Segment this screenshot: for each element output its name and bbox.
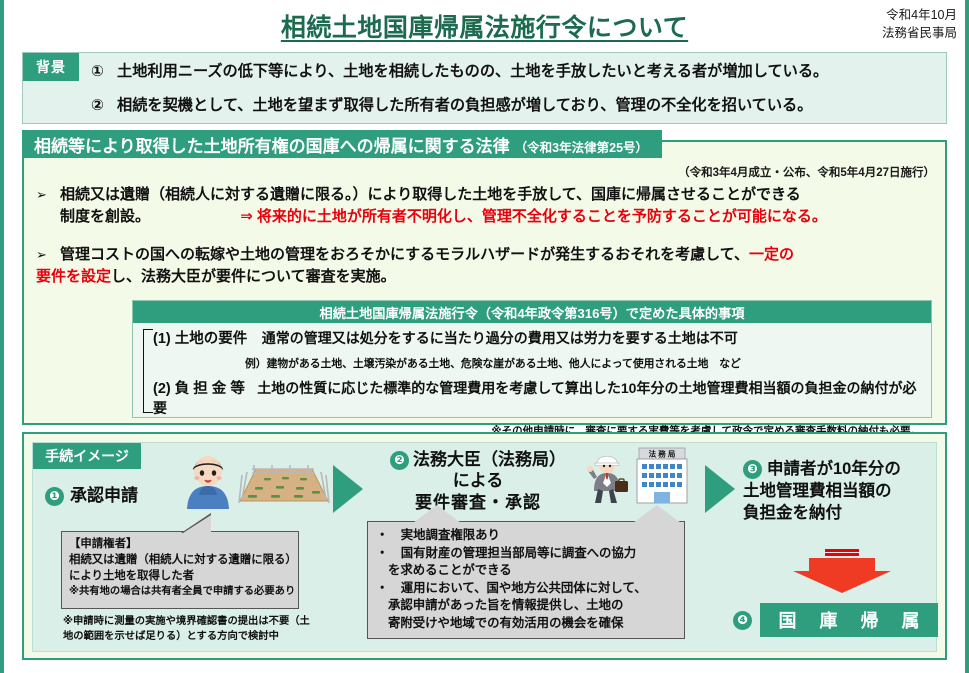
header-date: 令和4年10月 — [882, 6, 957, 24]
spec-row-2-red-text: 負担金 — [804, 380, 846, 396]
callout-1-line-2: 相続又は遺贈（相続人に対する遺贈に限る） — [69, 553, 291, 569]
law-bullet-1-line2: 制度を創設。 — [60, 208, 150, 225]
spec-row-1-example: 例）建物がある土地、土壌汚染がある土地、危険な崖がある土地、他人によって使用され… — [153, 355, 925, 371]
background-item-1-text: 土地利用ニーズの低下等により、土地を相続したものの、土地を手放したいと考える者が… — [117, 63, 828, 80]
law-bullet-2-red-a: 一定の — [749, 246, 794, 263]
step-2-line-2: による — [363, 470, 593, 491]
red-down-arrow-icon — [791, 549, 893, 593]
step-4-number: ❹ — [733, 611, 752, 630]
step-2-number: ❷ — [390, 451, 409, 470]
law-bullet-1-line2-wrap: 制度を創設。 ⇒ 将来的に土地が所有者不明化し、管理不全化することを予防すること… — [36, 206, 933, 228]
flow-arrow-2-icon — [705, 465, 735, 513]
law-bullet-2-line1-wrap: 管理コストの国への転嫁や土地の管理をおろそかにするモラルハザードが発生するおそれ… — [36, 244, 933, 266]
callout-2-line-6: 寄附受けや地域での有効活用の機会を確保 — [376, 615, 676, 633]
background-item-2-text: 相続を契機として、土地を望まず取得した所有者の負担感が増しており、管理の不全化を… — [117, 97, 812, 114]
step-1-footnote-line-1: ※申請時に測量の実施や境界確認書の提出は不要（土 — [63, 615, 310, 630]
step-3-line-3: 負担金を納付 — [743, 503, 943, 525]
background-item-2: ②相続を契機として、土地を望まず取得した所有者の負担感が増しており、管理の不全化… — [91, 93, 812, 115]
callout-1-line-1: 【申請権者】 — [69, 537, 291, 553]
spec-row-land-requirements: (1) 土地の要件 通常の管理又は処分をするに当たり過分の費用又は労力を要する土… — [153, 327, 925, 371]
step-3-line-2: 土地管理費相当額の — [743, 481, 943, 503]
step-1-footnote-line-2: 地の範囲を示せば足りる）とする方向で検討中 — [63, 630, 310, 645]
page-edge-left — [0, 0, 4, 673]
bullet-arrow-icon: ➢ — [36, 246, 47, 265]
step-2-line-1-wrap: ❷法務大臣（法務局） — [363, 449, 593, 470]
law-title-main: 相続等により取得した土地所有権の国庫への帰属に関する法律 — [34, 132, 510, 157]
step-3-number: ❸ — [743, 460, 762, 479]
step-1-label: 承認申請 — [70, 486, 138, 505]
applicant-person-icon — [183, 453, 233, 509]
spec-row-1-red-text: 通常の管理又は処分をするに当たり過分の費用又は労力を要する土地 — [262, 330, 696, 346]
procedure-inner-panel: 手続イメージ ❶承認申請 — [32, 442, 937, 652]
background-badge: 背景 — [23, 53, 79, 81]
legal-affairs-bureau-building-icon: 法 務 局 — [631, 447, 693, 505]
callout-1-line-4: ※共有地の場合は共有者全員で申請する必要あり — [69, 585, 291, 599]
spec-row-1-label: (1) 土地の要件 — [153, 327, 247, 348]
step-3-line-1: 申請者が10年分の — [767, 460, 901, 478]
law-section: 相続等により取得した土地所有権の国庫への帰属に関する法律 （令和3年法律第25号… — [22, 140, 947, 425]
law-bullet-2-line1: 管理コストの国への転嫁や土地の管理をおろそかにするモラルハザードが発生するおそれ… — [60, 246, 749, 263]
background-section: 背景 ①土地利用ニーズの低下等により、土地を相続したものの、土地を手放したいと考… — [22, 52, 947, 124]
step-2-line-3: 要件審査・承認 — [363, 492, 593, 513]
law-bullet-1-line1: 相続又は遺贈（相続人に対する遺贈に限る。）により取得した土地を手放して、国庫に帰… — [36, 184, 933, 206]
specific-items-panel: 相続土地国庫帰属法施行令（令和4年政令第316号）で定めた具体的事項 (1) 土… — [132, 300, 932, 418]
callout-2-tail-left — [413, 505, 461, 523]
specific-items-bracket — [143, 329, 153, 413]
step-2-line-1: 法務大臣（法務局） — [413, 450, 566, 469]
step-3-title: ❸申請者が10年分の 土地管理費相当額の 負担金を納付 — [743, 459, 943, 524]
step-1-footnote: ※申請時に測量の実施や境界確認書の提出は不要（土 地の範囲を示せば足りる）とする… — [63, 615, 310, 645]
callout-2-line-5: 承認申請があった旨を情報提供し、土地の — [376, 597, 676, 615]
callout-2-line-2: ・ 国有財産の管理担当部局等に調査への協力 — [376, 545, 676, 563]
page-edge-right — [965, 0, 969, 673]
callout-2-line-3: を求めることができる — [376, 562, 676, 580]
procedure-badge: 手続イメージ — [33, 443, 141, 469]
spec-row-burden-charge: (2) 負 担 金 等 土地の性質に応じた標準的な管理費用を考慮して算出した10… — [153, 377, 925, 438]
law-bullet-1: ➢ 相続又は遺贈（相続人に対する遺贈に限る。）により取得した土地を手放して、国庫… — [36, 184, 933, 228]
spec-row-2-text-a: 土地の性質に応じた標準的な管理費用を考慮して算出した10年分の土地管理費相当額の — [257, 380, 804, 396]
step-4-label: 国 庫 帰 属 — [760, 603, 938, 637]
header-meta: 令和4年10月 法務省民事局 — [882, 6, 957, 42]
law-enforcement-note: （令和3年4月成立・公布、令和5年4月27日施行） — [678, 164, 935, 180]
callout-1-line-3: により土地を取得した者 — [69, 569, 291, 585]
applicant-eligibility-callout: 【申請権者】 相続又は遺贈（相続人に対する遺贈に限る） により土地を取得した者 … — [61, 531, 299, 609]
step-1-number: ❶ — [45, 487, 64, 506]
law-bullet-2-line2: し、法務大臣が要件について審査を実施。 — [111, 268, 396, 285]
legal-affairs-officer-icon — [585, 451, 633, 503]
law-bullet-2-red-b: 要件を設定 — [36, 268, 111, 285]
review-authority-callout: ・ 実地調査権限あり ・ 国有財産の管理担当部局等に調査への協力 を求めることが… — [367, 521, 685, 639]
document-page: 相続土地国庫帰属法施行令について 令和4年10月 法務省民事局 背景 ①土地利用… — [0, 0, 969, 673]
step-4-result: ❹ 国 庫 帰 属 — [733, 603, 945, 637]
land-plot-icon — [238, 461, 330, 507]
step-3-line-1-wrap: ❸申請者が10年分の — [743, 459, 943, 481]
page-title: 相続土地国庫帰属法施行令について — [0, 8, 969, 44]
svg-text:法 務 局: 法 務 局 — [649, 449, 676, 459]
background-item-1-number: ① — [91, 62, 117, 80]
procedure-section: 手続イメージ ❶承認申請 — [22, 432, 947, 660]
callout-2-line-1: ・ 実地調査権限あり — [376, 527, 676, 545]
background-item-2-number: ② — [91, 96, 117, 114]
background-item-1: ①土地利用ニーズの低下等により、土地を相続したものの、土地を手放したいと考える者… — [91, 59, 828, 81]
spec-row-1-black-text: は不可 — [696, 330, 738, 346]
step-2-title: ❷法務大臣（法務局） による 要件審査・承認 — [363, 449, 593, 513]
flow-arrow-1-icon — [333, 465, 363, 513]
document-header: 相続土地国庫帰属法施行令について 令和4年10月 法務省民事局 — [0, 0, 969, 48]
specific-items-header: 相続土地国庫帰属法施行令（令和4年政令第316号）で定めた具体的事項 — [133, 301, 931, 323]
callout-1-tail — [183, 515, 211, 533]
header-issuer: 法務省民事局 — [882, 24, 957, 42]
law-title-sub: （令和3年法律第25号） — [515, 137, 648, 156]
law-bullet-2: ➢ 管理コストの国への転嫁や土地の管理をおろそかにするモラルハザードが発生するお… — [36, 244, 933, 288]
law-bullet-1-red-note: ⇒ 将来的に土地が所有者不明化し、管理不全化することを予防することが可能になる。 — [240, 208, 827, 225]
step-1-title: ❶承認申請 — [45, 481, 138, 506]
callout-2-tail-right — [633, 505, 681, 523]
law-bullet-2-line2-wrap: 要件を設定し、法務大臣が要件について審査を実施。 — [36, 266, 933, 288]
bullet-arrow-icon: ➢ — [36, 186, 47, 205]
spec-row-2-label: (2) 負 担 金 等 — [153, 377, 245, 398]
law-title-tab: 相続等により取得した土地所有権の国庫への帰属に関する法律 （令和3年法律第25号… — [22, 130, 662, 158]
callout-2-line-4: ・ 運用において、国や地方公共団体に対して、 — [376, 580, 676, 598]
